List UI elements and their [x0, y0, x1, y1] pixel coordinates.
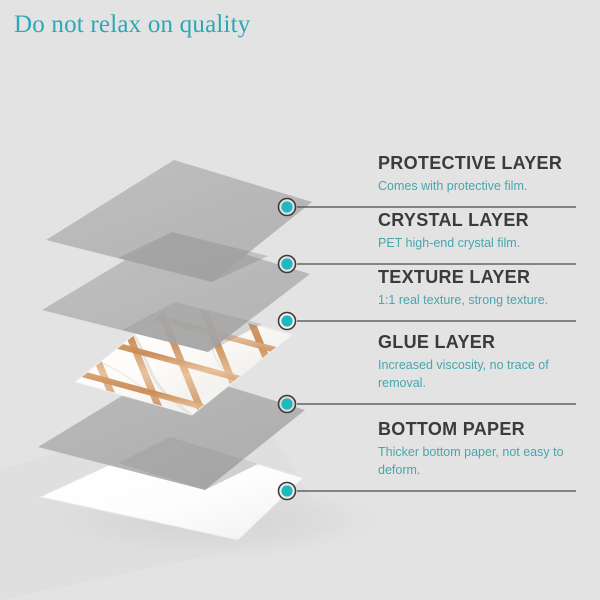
callout-glue: GLUE LAYER Increased viscosity, no trace…	[378, 331, 578, 392]
callout-description-protective: Comes with protective film.	[378, 177, 578, 195]
callout-protective: PROTECTIVE LAYER Comes with protective f…	[378, 152, 578, 195]
callout-texture: TEXTURE LAYER 1:1 real texture, strong t…	[378, 266, 578, 309]
infographic-canvas: Do not relax on quality	[0, 0, 600, 600]
callout-description-bottom: Thicker bottom paper, not easy to deform…	[378, 443, 578, 479]
callout-heading-glue: GLUE LAYER	[378, 331, 578, 353]
callout-heading-protective: PROTECTIVE LAYER	[378, 152, 578, 174]
marker-texture[interactable]	[279, 313, 296, 330]
marker-bottom[interactable]	[279, 483, 296, 500]
marker-protective[interactable]	[279, 199, 296, 216]
callout-crystal: CRYSTAL LAYER PET high-end crystal film.	[378, 209, 578, 252]
callout-description-texture: 1:1 real texture, strong texture.	[378, 291, 578, 309]
callout-bottom: BOTTOM PAPER Thicker bottom paper, not e…	[378, 418, 578, 479]
callout-heading-texture: TEXTURE LAYER	[378, 266, 578, 288]
marker-crystal[interactable]	[279, 256, 296, 273]
callout-heading-bottom: BOTTOM PAPER	[378, 418, 578, 440]
callout-heading-crystal: CRYSTAL LAYER	[378, 209, 578, 231]
callout-description-glue: Increased viscosity, no trace of removal…	[378, 356, 578, 392]
marker-glue[interactable]	[279, 396, 296, 413]
callout-description-crystal: PET high-end crystal film.	[378, 234, 578, 252]
